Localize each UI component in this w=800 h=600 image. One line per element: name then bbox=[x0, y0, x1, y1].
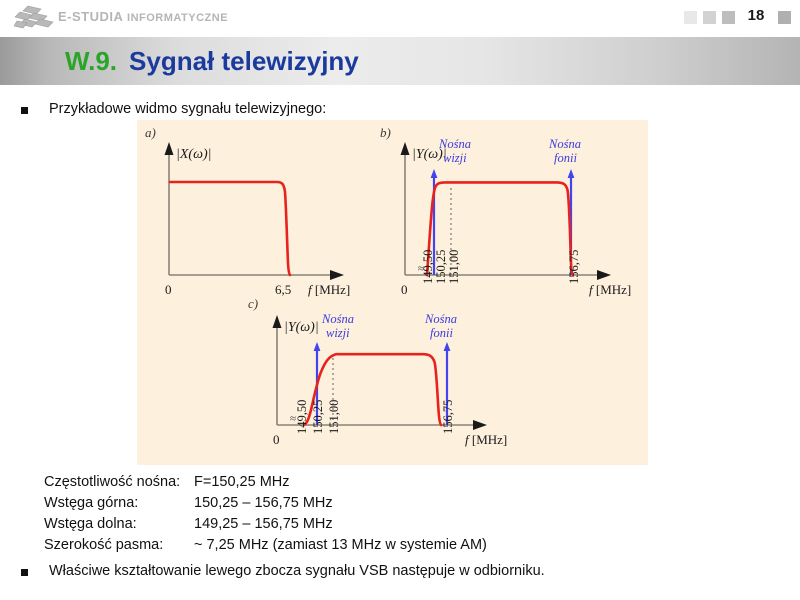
bullet-conclusion-label: Właściwe kształtowanie lewego zbocza syg… bbox=[49, 563, 545, 579]
panel-b-annotation-audio: Nośna bbox=[548, 137, 581, 151]
spec-value-upper-sideband: 150,25 – 156,75 MHz bbox=[194, 493, 333, 514]
header-square-1 bbox=[684, 11, 697, 24]
page-number: 18 bbox=[742, 7, 770, 24]
slide-title-bar: W.9.Sygnał telewizyjny bbox=[0, 37, 800, 85]
header-square-4 bbox=[778, 11, 791, 24]
header-square-3 bbox=[722, 11, 735, 24]
panel-c-annotation-vision: Nośna bbox=[321, 312, 354, 326]
panel-a-ylabel: |X(ω)| bbox=[176, 147, 211, 162]
panel-c: c) |Y(ω)| ≈ Nośna wizji Nośna fonii 0 14… bbox=[248, 296, 507, 447]
spec-row-bandwidth: Szerokość pasma: ~ 7,25 MHz (zamiast 13 … bbox=[44, 535, 487, 556]
spectrum-figure: a) |X(ω)| 0 6,5 f [MHz] b) |Y(ω)| ≈ bbox=[137, 120, 648, 465]
panel-c-ylabel: |Y(ω)| bbox=[284, 320, 319, 335]
panel-b-x-arrow bbox=[597, 270, 611, 280]
panel-c-x-arrow bbox=[473, 420, 487, 430]
panel-b-tick-149-50: 149,50 bbox=[421, 250, 435, 284]
panel-b-tick-150-25: 150,25 bbox=[434, 250, 448, 284]
panel-a-y-arrow bbox=[165, 142, 174, 155]
panel-b-annotation-vision: Nośna bbox=[438, 137, 471, 151]
panel-c-annotation-vision-2: wizji bbox=[326, 326, 350, 340]
panel-c-tick-149-50: 149,50 bbox=[295, 400, 309, 434]
panel-c-carrier-vision-arrow bbox=[314, 342, 321, 351]
panel-b-origin-label: 0 bbox=[401, 282, 408, 297]
panel-c-annotation-audio-2: fonii bbox=[430, 326, 453, 340]
header-square-2 bbox=[703, 11, 716, 24]
panel-c-tick-151-00: 151,00 bbox=[327, 400, 341, 434]
panel-b-carrier-audio-arrow bbox=[568, 169, 575, 178]
bullet-item-conclusion: Właściwe kształtowanie lewego zbocza syg… bbox=[21, 563, 545, 579]
stacked-diamonds-logo-icon bbox=[14, 5, 54, 31]
panel-b-annotation-audio-2: fonii bbox=[554, 151, 577, 165]
panel-c-origin-label: 0 bbox=[273, 432, 280, 447]
spectrum-figure-svg: a) |X(ω)| 0 6,5 f [MHz] b) |Y(ω)| ≈ bbox=[137, 120, 648, 465]
panel-b-xlabel: f [MHz] bbox=[589, 282, 631, 297]
spec-key-lower-sideband: Wstęga dolna: bbox=[44, 514, 194, 535]
panel-a-tick-6-5: 6,5 bbox=[275, 282, 291, 297]
signal-spec-list: Częstotliwość nośna: F=150,25 MHz Wstęga… bbox=[44, 472, 487, 556]
panel-b-tick-156-75: 156,75 bbox=[567, 250, 581, 284]
page-title: W.9.Sygnał telewizyjny bbox=[65, 46, 359, 77]
logo-text-main: E-STUDIA bbox=[58, 9, 123, 24]
panel-a-spectrum-curve bbox=[170, 182, 290, 275]
panel-c-tag: c) bbox=[248, 296, 258, 311]
bullet-intro-label: Przykładowe widmo sygnału telewizyjnego: bbox=[49, 101, 326, 117]
title-main: Sygnał telewizyjny bbox=[129, 46, 359, 76]
square-bullet-icon bbox=[21, 107, 28, 114]
panel-c-tick-150-25: 150,25 bbox=[311, 400, 325, 434]
panel-b-tick-151-00: 151,00 bbox=[447, 250, 461, 284]
title-prefix: W.9. bbox=[65, 46, 117, 76]
panel-c-tick-156-75: 156,75 bbox=[441, 400, 455, 434]
panel-b-annotation-vision-2: wizji bbox=[443, 151, 467, 165]
bullet-item-intro: Przykładowe widmo sygnału telewizyjnego: bbox=[21, 101, 326, 117]
panel-c-xlabel: f [MHz] bbox=[465, 432, 507, 447]
spec-key-bandwidth: Szerokość pasma: bbox=[44, 535, 194, 556]
panel-b: b) |Y(ω)| ≈ Nośna wizji Nośna fonii 0 bbox=[380, 125, 631, 297]
spec-key-upper-sideband: Wstęga górna: bbox=[44, 493, 194, 514]
spec-row-upper-sideband: Wstęga górna: 150,25 – 156,75 MHz bbox=[44, 493, 487, 514]
panel-c-y-arrow bbox=[273, 315, 282, 328]
panel-a-xlabel: f [MHz] bbox=[308, 282, 350, 297]
panel-a-origin-label: 0 bbox=[165, 282, 172, 297]
spec-row-carrier-frequency: Częstotliwość nośna: F=150,25 MHz bbox=[44, 472, 487, 493]
panel-c-carrier-audio-arrow bbox=[444, 342, 451, 351]
panel-a-tag: a) bbox=[145, 125, 156, 140]
panel-a-x-arrow bbox=[330, 270, 344, 280]
panel-c-annotation-audio: Nośna bbox=[424, 312, 457, 326]
logo-text-sub: INFORMATYCZNE bbox=[127, 12, 228, 24]
panel-a: a) |X(ω)| 0 6,5 f [MHz] bbox=[145, 125, 350, 297]
panel-b-tag: b) bbox=[380, 125, 391, 140]
logo-wordmark: E-STUDIA INFORMATYCZNE bbox=[58, 9, 228, 24]
spec-value-bandwidth: ~ 7,25 MHz (zamiast 13 MHz w systemie AM… bbox=[194, 535, 487, 556]
panel-b-y-arrow bbox=[401, 142, 410, 155]
spec-key-carrier-frequency: Częstotliwość nośna: bbox=[44, 472, 194, 493]
page-header: E-STUDIA INFORMATYCZNE 18 bbox=[0, 0, 800, 35]
panel-b-carrier-vision-arrow bbox=[431, 169, 438, 178]
spec-row-lower-sideband: Wstęga dolna: 149,25 – 156,75 MHz bbox=[44, 514, 487, 535]
square-bullet-icon bbox=[21, 569, 28, 576]
spec-value-carrier-frequency: F=150,25 MHz bbox=[194, 472, 290, 493]
spec-value-lower-sideband: 149,25 – 156,75 MHz bbox=[194, 514, 333, 535]
